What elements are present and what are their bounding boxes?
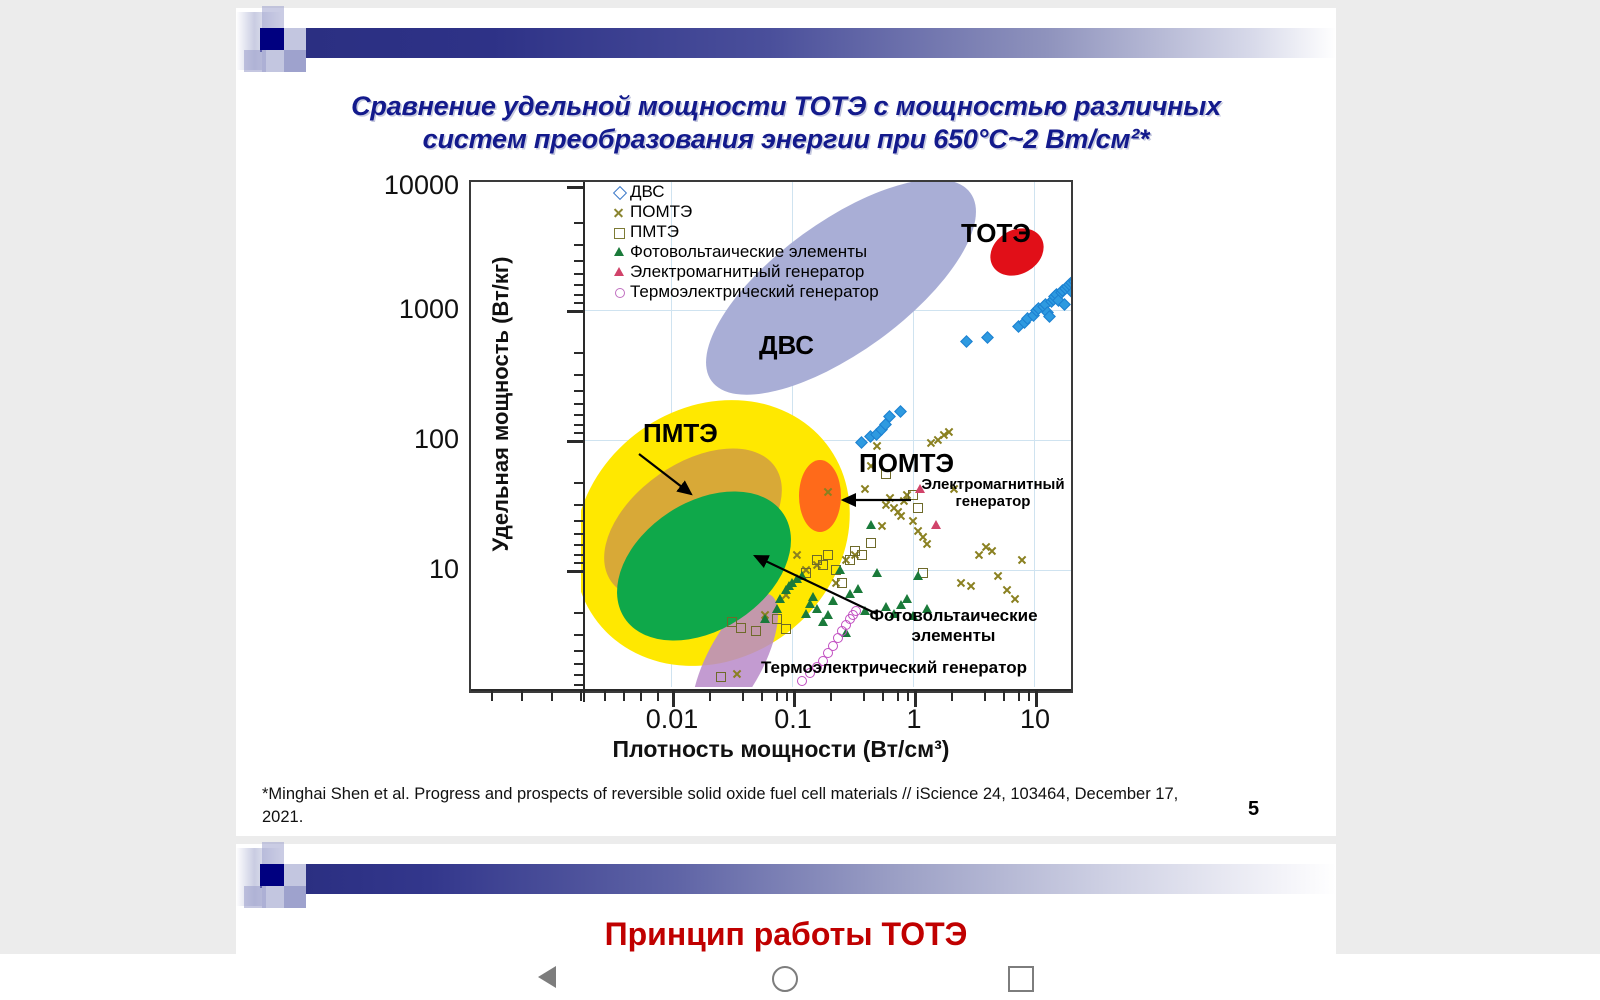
next-deco-square-navy xyxy=(260,864,284,888)
next-slide-title: Принцип работы ТОТЭ xyxy=(236,916,1336,953)
data-point xyxy=(877,520,887,530)
x-mark-icon xyxy=(609,203,628,222)
data-point xyxy=(775,594,785,603)
data-point xyxy=(993,571,1003,581)
annotation-photovoltaic: Фотовольтаические элементы xyxy=(861,606,1046,646)
ytick-1000 xyxy=(567,310,585,313)
triangle-green-icon xyxy=(609,243,628,262)
annotation-dvs: ДВС xyxy=(759,330,814,361)
deco-gradient-bar xyxy=(306,28,1336,58)
data-point xyxy=(835,565,845,574)
triangle-red-icon xyxy=(609,263,628,282)
legend-item-photovoltaic[interactable]: Фотовольтаические элементы xyxy=(609,242,879,262)
legend-item-electromagnetic[interactable]: Электромагнитный генератор xyxy=(609,262,879,282)
legend-label-thermoelectric: Термоэлектрический генератор xyxy=(630,282,879,302)
next-deco-square-lilac-2 xyxy=(262,842,284,864)
slide-title-line-1: Сравнение удельной мощности ТОТЭ с мощно… xyxy=(296,90,1276,123)
y-axis-label: Удельная мощность (Вт/кг) xyxy=(488,184,514,624)
data-point xyxy=(797,571,807,580)
annotation-pmte: ПМТЭ xyxy=(643,418,718,449)
data-point xyxy=(812,604,822,613)
ytick-10 xyxy=(567,570,585,573)
legend-item-dvs[interactable]: ДВС xyxy=(609,182,879,202)
xtick-label-10: 10 xyxy=(985,704,1085,735)
circle-icon xyxy=(609,283,628,302)
data-point xyxy=(956,578,966,588)
page-number: 5 xyxy=(1248,798,1259,821)
data-point xyxy=(853,584,863,593)
slide-next[interactable]: Принцип работы ТОТЭ xyxy=(236,844,1336,954)
data-point xyxy=(922,538,932,548)
deco-square-pale-1 xyxy=(284,28,306,50)
legend-item-pomte[interactable]: ПОМТЭ xyxy=(609,202,879,222)
data-point xyxy=(818,560,828,570)
legend-label-dvs: ДВС xyxy=(630,182,665,202)
deco-square-navy xyxy=(260,28,284,52)
data-point xyxy=(781,624,791,634)
data-point xyxy=(808,592,818,601)
annotation-thermoelectric: Термоэлектрический генератор xyxy=(729,658,1059,678)
slide-title: Сравнение удельной мощности ТОТЭ с мощно… xyxy=(296,90,1276,156)
slide-current: Сравнение удельной мощности ТОТЭ с мощно… xyxy=(236,8,1336,836)
chart-legend: ДВС ПОМТЭ ПМТЭ Фотовольтаические элемент… xyxy=(609,182,879,302)
legend-label-electromagnetic: Электромагнитный генератор xyxy=(630,262,864,282)
next-deco-square-lilac-1 xyxy=(284,886,306,908)
data-point xyxy=(828,596,838,605)
data-point xyxy=(966,581,976,591)
next-deco-gradient-bar xyxy=(306,864,1336,894)
data-point xyxy=(1010,594,1020,604)
data-point xyxy=(801,609,811,618)
data-point xyxy=(857,550,867,560)
data-point xyxy=(1017,555,1027,565)
data-point xyxy=(872,568,882,577)
data-point xyxy=(866,538,876,548)
next-slide-header-decoration xyxy=(236,844,1336,910)
chart-figure: 10000 1000 100 10 0.01 0.1 1 10 Удельная… xyxy=(461,176,1081,766)
data-point xyxy=(860,484,870,494)
data-point xyxy=(792,550,802,560)
region-ellipse-electromagnetic xyxy=(799,460,841,532)
data-point xyxy=(931,520,941,529)
annotation-electromagnetic: Электромагнитный генератор xyxy=(913,476,1073,510)
data-point xyxy=(885,493,895,503)
data-point xyxy=(716,672,726,682)
legend-label-pomte: ПОМТЭ xyxy=(630,202,692,222)
xtick-label-1: 1 xyxy=(864,704,964,735)
recents-icon[interactable] xyxy=(1008,966,1034,992)
data-point xyxy=(908,516,918,526)
slide-title-line-2: систем преобразования энергии при 650°C~… xyxy=(296,123,1276,156)
square-icon xyxy=(609,223,628,242)
slide-header-decoration xyxy=(236,8,1336,74)
next-deco-square-lilac-3 xyxy=(244,886,266,908)
xtick-label-001: 0.01 xyxy=(622,704,722,735)
ytick-label-1000: 1000 xyxy=(399,294,459,325)
legend-label-photovoltaic: Фотовольтаические элементы xyxy=(630,242,867,262)
home-icon[interactable] xyxy=(772,966,798,992)
ytick-100 xyxy=(567,440,585,443)
legend-label-pmte: ПМТЭ xyxy=(630,222,679,242)
next-deco-square-pale-1 xyxy=(284,864,306,886)
data-point xyxy=(913,571,923,580)
data-point xyxy=(837,578,847,588)
x-axis-label: Плотность мощности (Вт/см³) xyxy=(491,736,1071,763)
annotation-tote: ТОТЭ xyxy=(961,218,1031,249)
ytick-10000 xyxy=(567,186,585,189)
deco-square-lilac-2 xyxy=(262,6,284,28)
data-point xyxy=(944,427,954,437)
data-point xyxy=(736,623,746,633)
diamond-icon xyxy=(609,183,628,202)
data-point xyxy=(823,487,833,497)
data-point xyxy=(982,331,995,344)
data-point xyxy=(987,546,997,556)
data-point xyxy=(760,614,770,623)
ytick-label-10000: 10000 xyxy=(384,170,459,201)
annotation-pomte: ПОМТЭ xyxy=(859,448,954,479)
data-point xyxy=(751,626,761,636)
data-point xyxy=(845,555,855,565)
slide-viewer: Сравнение удельной мощности ТОТЭ с мощно… xyxy=(0,0,1600,1000)
data-point xyxy=(896,511,906,521)
data-point xyxy=(772,604,782,613)
data-point xyxy=(894,405,907,418)
x-axis-line xyxy=(471,689,1071,691)
citation-text: *Minghai Shen et al. Progress and prospe… xyxy=(262,783,1192,830)
deco-square-lilac-1 xyxy=(284,50,306,72)
xtick-label-01: 0.1 xyxy=(743,704,843,735)
ytick-label-10: 10 xyxy=(429,554,459,585)
data-point xyxy=(772,614,782,624)
data-point xyxy=(866,520,876,529)
android-nav-bar xyxy=(0,954,1600,1000)
deco-square-lilac-3 xyxy=(244,50,266,72)
data-point xyxy=(823,550,833,560)
back-icon[interactable] xyxy=(538,966,556,988)
data-point xyxy=(823,610,833,619)
data-point xyxy=(902,594,912,603)
legend-item-pmte[interactable]: ПМТЭ xyxy=(609,222,879,242)
ytick-label-100: 100 xyxy=(414,424,459,455)
legend-item-thermoelectric[interactable]: Термоэлектрический генератор xyxy=(609,282,879,302)
data-point xyxy=(960,335,973,348)
